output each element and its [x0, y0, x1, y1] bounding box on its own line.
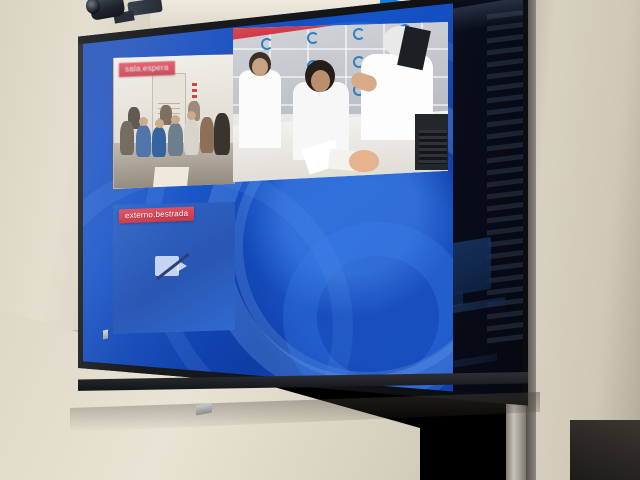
person: [152, 127, 166, 157]
reflection-blinds: [487, 10, 523, 345]
tv-power-led: [103, 330, 108, 340]
person-head: [171, 115, 180, 124]
video-tile-teleconsulta[interactable]: TELECONSULTA: [233, 22, 448, 182]
person-head: [139, 117, 148, 126]
room-scene: TELECONSULTA: [0, 0, 640, 480]
sponsor-logo-icon: [307, 32, 319, 44]
participant-label-waitingroom: sala.espera: [119, 61, 175, 77]
clinician-face: [311, 70, 330, 92]
person: [168, 123, 183, 156]
person: [120, 121, 134, 155]
waitingroom-table: [153, 167, 189, 187]
clinician-body: [239, 70, 281, 148]
sponsor-logo-icon: [353, 28, 365, 40]
camera-off-icon: [155, 252, 189, 280]
person: [136, 125, 151, 157]
person: [214, 113, 230, 155]
infant: [349, 150, 379, 172]
person: [184, 119, 199, 155]
keyboard: [419, 130, 447, 164]
room-dark-corner: [570, 420, 640, 480]
videoconference-camera[interactable]: [84, 0, 136, 24]
sponsor-logo-icon: [261, 38, 273, 50]
person: [200, 117, 214, 153]
person-head: [187, 111, 196, 120]
person-head: [155, 119, 164, 128]
clinician-face: [252, 58, 268, 76]
participant-label-cameraoff: externo.bestrada: [119, 207, 194, 224]
